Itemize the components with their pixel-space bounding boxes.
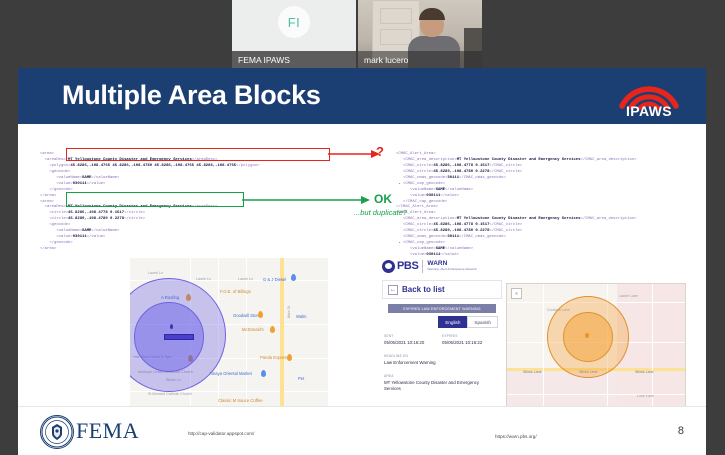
video-tile-fema-ipaws[interactable]: FI FEMA IPAWS	[232, 0, 356, 68]
question-annotation: ?	[376, 144, 384, 159]
expires-label: EXPIRES	[442, 334, 458, 338]
pbs-warn-panel: PBS WARN Warning, Alert & Response Netwo…	[380, 256, 502, 406]
duplicate-annotation: ...but duplicate?	[354, 208, 407, 217]
ipaws-wordmark: IPAWS	[614, 103, 684, 119]
headline-label: HEADLINE EN	[384, 354, 408, 358]
map-pin[interactable]	[258, 311, 263, 318]
map-label: Laurie Ln	[196, 277, 211, 281]
google-map-cap-circles[interactable]: Laurel Ln Laurie Ln Laurie Ln A Roofing …	[130, 258, 328, 408]
map-poi-label: McDonald's	[242, 327, 264, 332]
logo-divider	[422, 260, 423, 273]
green-annotation-arrow	[242, 194, 370, 206]
language-spanish-button[interactable]: Spanish	[467, 316, 498, 328]
map-label: Main St	[287, 306, 291, 318]
map-pin[interactable]	[261, 370, 266, 377]
map-collapse-control[interactable]: «	[511, 288, 522, 299]
back-to-list-button[interactable]: ← Back to list	[382, 280, 502, 299]
pbs-logo-icon	[382, 260, 395, 273]
back-to-list-label: Back to list	[402, 285, 445, 294]
map-road	[543, 284, 544, 406]
back-arrow-icon: ←	[388, 285, 398, 295]
map-poi-label: Pet	[298, 376, 304, 381]
participant-name: FEMA IPAWS	[232, 51, 356, 68]
map-poi-label: Goodwill Store	[233, 313, 260, 318]
map-label: St Bernard Catholic Church	[148, 392, 192, 396]
map-poi-label: Amaya Oriental Market	[209, 371, 252, 376]
headline-value: Law Enforcement Warning	[384, 360, 436, 365]
video-tile-mark-lucero[interactable]: mark lucero	[358, 0, 482, 68]
map-label: Wicks Lane	[635, 370, 654, 374]
map-poi-label: Walm	[296, 314, 307, 319]
page-title: Multiple Area Blocks	[62, 80, 321, 111]
language-toggle[interactable]: English Spanish	[438, 316, 498, 328]
cap-validator-url[interactable]: http://cap-validator.appspot.com/	[188, 431, 254, 436]
map-poi-label: Panda Express	[260, 355, 288, 360]
warn-product-tagline: Warning, Alert & Response Network	[427, 268, 476, 271]
sent-label: SENT	[384, 334, 394, 338]
map-label: Laurel Ln	[148, 271, 163, 275]
map-poi-label: F.O.E. of Billings	[220, 289, 251, 294]
circle-highlight-box	[66, 192, 244, 207]
map-label: Laurie Lane	[619, 294, 638, 298]
video-conference-strip: FI FEMA IPAWS mark lucero	[0, 0, 725, 68]
map-road	[652, 284, 653, 406]
area-value: MT Yellowstone County Disaster and Emerg…	[384, 380, 496, 393]
slide-page-number: 8	[678, 425, 684, 437]
map-pin[interactable]	[270, 326, 275, 333]
map-poi-label: G & J Diesel	[263, 277, 286, 282]
warn-pbs-url[interactable]: https://warn.pbs.org/	[495, 434, 537, 439]
red-annotation-arrow	[328, 148, 380, 160]
area-label: AREA	[384, 374, 394, 378]
cmac-center-marker	[585, 333, 589, 338]
map-poi-label: Classic M Sauce Coffee	[218, 398, 263, 403]
slide-header-band: Multiple Area Blocks IPAWS	[18, 68, 706, 124]
fema-wordmark: FEMA	[76, 418, 139, 444]
sent-value: 05/05/2021 10:16:20	[384, 340, 424, 345]
pbs-map-cmac-circles[interactable]: Wicks Lane Wicks Lane Wicks Lane Laurie …	[506, 283, 686, 407]
fema-seal-icon	[40, 415, 74, 449]
language-english-button[interactable]: English	[438, 316, 467, 328]
map-pin[interactable]	[291, 274, 296, 281]
cap-center-marker	[170, 324, 173, 329]
cap-center-bar	[164, 334, 194, 340]
avatar: FI	[278, 6, 310, 38]
ok-annotation: OK	[374, 192, 392, 206]
pbs-warn-logo: PBS WARN Warning, Alert & Response Netwo…	[380, 256, 502, 276]
expires-value: 05/05/2021 10:16:22	[442, 340, 482, 345]
map-road	[507, 394, 685, 395]
pbs-brand-text: PBS	[397, 260, 418, 272]
person-hair	[419, 8, 445, 20]
map-label: Wicks Lane	[523, 370, 542, 374]
map-label: Laurie Ln	[238, 277, 253, 281]
map-label: Lorie Lane	[637, 394, 654, 398]
polygon-highlight-box	[66, 148, 330, 161]
cmac-xml-code-block: <CMAC_Alert_Area> <CMAC_area_description…	[396, 152, 696, 271]
slide-footer: FEMA http://cap-validator.appspot.com/ h…	[18, 406, 706, 455]
participant-name: mark lucero	[358, 51, 482, 68]
map-pin[interactable]	[287, 354, 292, 361]
presentation-slide: Multiple Area Blocks IPAWS <area> <areaD…	[18, 68, 706, 455]
severity-banner: EXPIRED LAW ENFORCEMENT WARNING	[388, 304, 496, 313]
